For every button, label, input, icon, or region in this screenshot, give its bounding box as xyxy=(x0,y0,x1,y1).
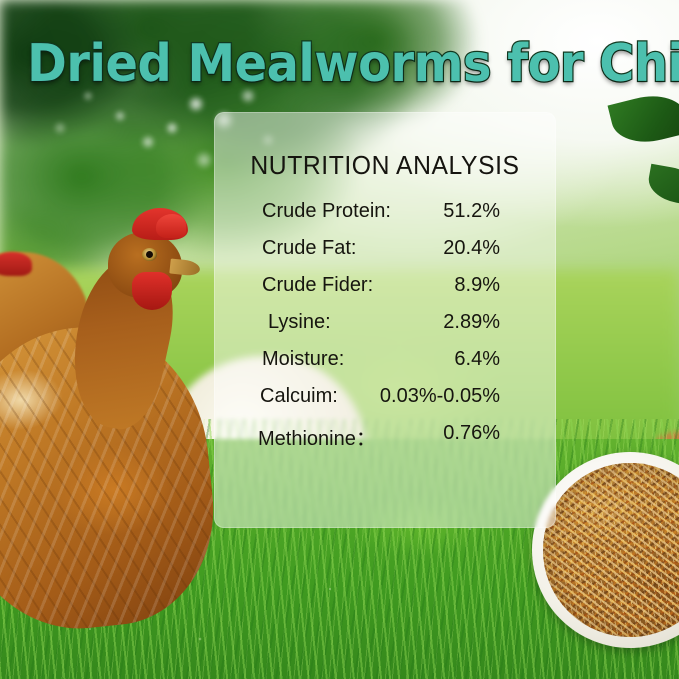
nutrient-value: 20.4% xyxy=(443,237,500,260)
nutrition-row: Crude Fat: 20.4% xyxy=(214,237,556,274)
hen-beak xyxy=(169,258,200,276)
nutrition-panel-heading: NUTRITION ANALYSIS xyxy=(223,150,548,181)
nutrient-label: Crude Fat: xyxy=(262,237,356,260)
nutrition-row: Methionine： 0.76% xyxy=(214,422,556,459)
nutrient-value: 6.4% xyxy=(454,348,500,371)
page-title: Dried Mealworms for Chickens xyxy=(27,34,652,94)
nutrition-analysis-panel: NUTRITION ANALYSIS Crude Protein: 51.2% … xyxy=(214,112,556,528)
nutrition-row: Calcuim: 0.03%-0.05% xyxy=(214,385,556,422)
hen-eye-pupil xyxy=(146,251,153,258)
nutrient-value: 0.03%-0.05% xyxy=(380,385,500,408)
product-poster: Dried Mealworms for Chickens NUTRITION A… xyxy=(0,0,679,679)
nutrient-value: 51.2% xyxy=(443,200,500,223)
nutrition-rows: Crude Protein: 51.2% Crude Fat: 20.4% Cr… xyxy=(214,200,556,459)
nutrient-value: 8.9% xyxy=(454,274,500,297)
nutrient-label: Moisture: xyxy=(262,348,344,371)
nutrient-label: Lysine: xyxy=(268,311,331,334)
hen-comb-highlight xyxy=(156,214,186,238)
nutrition-row: Moisture: 6.4% xyxy=(214,348,556,385)
nutrition-row: Lysine: 2.89% xyxy=(214,311,556,348)
nutrient-label: Methionine： xyxy=(258,422,376,451)
nutrition-row: Crude Protein: 51.2% xyxy=(214,200,556,237)
nutrient-value: 2.89% xyxy=(443,311,500,334)
nutrition-row: Crude Fider: 8.9% xyxy=(214,274,556,311)
nutrient-label: Crude Protein: xyxy=(262,200,391,223)
foreground-brown-hen xyxy=(0,210,230,630)
nutrient-label: Calcuim: xyxy=(260,385,338,408)
nutrient-label: Crude Fider: xyxy=(262,274,373,297)
hen-wattle xyxy=(132,272,172,310)
nutrient-value: 0.76% xyxy=(443,422,500,445)
